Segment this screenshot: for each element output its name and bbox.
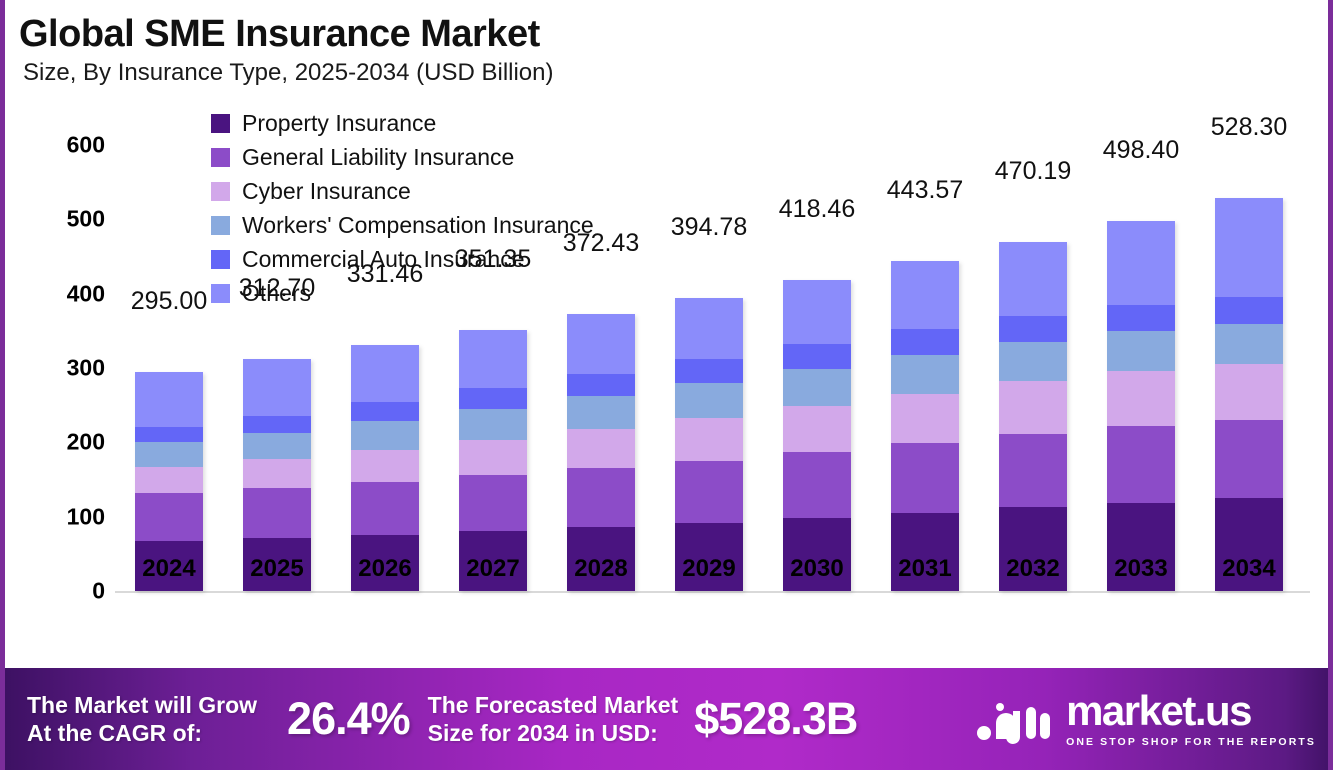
- bar-segment[interactable]: [567, 396, 635, 429]
- logo-wordmark: market.us: [1066, 690, 1316, 732]
- bar-column[interactable]: 418.462030: [763, 0, 871, 591]
- x-axis-tick-label: 2034: [1195, 555, 1303, 583]
- bar-segment[interactable]: [243, 416, 311, 433]
- x-axis-tick-label: 2030: [763, 555, 871, 583]
- bar-segment[interactable]: [891, 394, 959, 443]
- y-axis-tick-label: 100: [67, 503, 105, 530]
- bar-segment[interactable]: [351, 421, 419, 450]
- plot-area: 0100200300400500600 295.002024312.702025…: [5, 0, 1328, 660]
- bar-segment[interactable]: [243, 488, 311, 538]
- bar-segment[interactable]: [351, 402, 419, 421]
- bar-segment[interactable]: [891, 329, 959, 355]
- footer-banner: The Market will Grow At the CAGR of: 26.…: [5, 668, 1333, 770]
- forecast-label: The Forecasted Market Size for 2034 in U…: [428, 691, 679, 747]
- bar-segment[interactable]: [459, 388, 527, 409]
- x-axis-tick-label: 2029: [655, 555, 763, 583]
- bar-total-label: 295.00: [131, 287, 207, 316]
- bar-segment[interactable]: [783, 344, 851, 369]
- stacked-bar[interactable]: [783, 280, 851, 591]
- legend-swatch-icon: [211, 284, 230, 303]
- bar-segment[interactable]: [351, 482, 419, 535]
- stacked-bar[interactable]: [1215, 198, 1283, 591]
- bar-segment[interactable]: [783, 452, 851, 518]
- y-axis-tick-label: 200: [67, 429, 105, 456]
- cagr-value: 26.4%: [287, 693, 410, 745]
- bar-segment[interactable]: [243, 359, 311, 416]
- stacked-bar[interactable]: [675, 298, 743, 591]
- bar-total-label: 443.57: [887, 176, 963, 205]
- bar-column[interactable]: 470.192032: [979, 0, 1087, 591]
- legend-item[interactable]: Property Insurance: [211, 106, 594, 140]
- bar-segment[interactable]: [135, 372, 203, 427]
- chart-page: Global SME Insurance Market Size, By Ins…: [0, 0, 1333, 770]
- bar-segment[interactable]: [1215, 324, 1283, 365]
- legend-item[interactable]: Commercial Auto Insurance: [211, 242, 594, 276]
- bar-segment[interactable]: [459, 440, 527, 476]
- legend-swatch-icon: [211, 148, 230, 167]
- stacked-bar[interactable]: [999, 242, 1067, 591]
- stacked-bar[interactable]: [567, 314, 635, 591]
- bar-column[interactable]: 295.002024: [115, 0, 223, 591]
- bar-segment[interactable]: [1215, 420, 1283, 498]
- bar-segment[interactable]: [135, 467, 203, 493]
- bar-segment[interactable]: [1107, 331, 1175, 371]
- bar-segment[interactable]: [351, 450, 419, 482]
- bar-column[interactable]: 394.782029: [655, 0, 763, 591]
- bar-segment[interactable]: [675, 359, 743, 383]
- y-axis: 0100200300400500600: [33, 0, 105, 660]
- bar-segment[interactable]: [1107, 221, 1175, 305]
- bar-segment[interactable]: [999, 381, 1067, 433]
- bar-segment[interactable]: [999, 316, 1067, 342]
- bar-segment[interactable]: [459, 409, 527, 440]
- bar-total-label: 498.40: [1103, 136, 1179, 165]
- legend-swatch-icon: [211, 182, 230, 201]
- bar-segment[interactable]: [135, 442, 203, 467]
- bar-segment[interactable]: [567, 374, 635, 396]
- bar-segment[interactable]: [1215, 297, 1283, 324]
- bar-segment[interactable]: [459, 475, 527, 531]
- legend-item[interactable]: Workers' Compensation Insurance: [211, 208, 594, 242]
- bar-group: 295.002024312.702025331.462026351.352027…: [115, 0, 1310, 640]
- legend-item[interactable]: General Liability Insurance: [211, 140, 594, 174]
- bar-segment[interactable]: [243, 459, 311, 488]
- bar-segment[interactable]: [135, 427, 203, 443]
- bar-segment[interactable]: [891, 355, 959, 393]
- bar-segment[interactable]: [1215, 198, 1283, 297]
- legend-item-label: Property Insurance: [242, 112, 436, 135]
- bar-column[interactable]: 528.302034: [1195, 0, 1303, 591]
- cagr-label: The Market will Grow At the CAGR of:: [27, 691, 257, 747]
- bar-column[interactable]: 443.572031: [871, 0, 979, 591]
- bar-segment[interactable]: [783, 369, 851, 406]
- bar-segment[interactable]: [1215, 364, 1283, 420]
- bar-total-label: 418.46: [779, 195, 855, 224]
- legend-swatch-icon: [211, 250, 230, 269]
- x-axis-tick-label: 2027: [439, 555, 547, 583]
- stacked-bar[interactable]: [459, 330, 527, 591]
- x-axis-tick-label: 2031: [871, 555, 979, 583]
- legend-swatch-icon: [211, 216, 230, 235]
- bar-segment[interactable]: [351, 345, 419, 403]
- y-axis-tick-label: 600: [67, 132, 105, 159]
- bar-segment[interactable]: [675, 418, 743, 461]
- bar-segment[interactable]: [999, 434, 1067, 508]
- bar-segment[interactable]: [243, 433, 311, 459]
- bar-segment[interactable]: [891, 261, 959, 329]
- bar-segment[interactable]: [999, 242, 1067, 316]
- bar-total-label: 394.78: [671, 213, 747, 242]
- bar-segment[interactable]: [1107, 305, 1175, 332]
- legend-item[interactable]: Cyber Insurance: [211, 174, 594, 208]
- bar-segment[interactable]: [567, 468, 635, 527]
- y-axis-tick-label: 500: [67, 206, 105, 233]
- legend-swatch-icon: [211, 114, 230, 133]
- bar-segment[interactable]: [1107, 426, 1175, 503]
- bar-segment[interactable]: [783, 406, 851, 452]
- stacked-bar[interactable]: [891, 261, 959, 591]
- legend-item-label: Workers' Compensation Insurance: [242, 214, 594, 237]
- y-axis-tick-label: 0: [92, 578, 105, 605]
- x-axis-tick-label: 2025: [223, 555, 331, 583]
- x-axis-tick-label: 2028: [547, 555, 655, 583]
- x-axis-tick-label: 2032: [979, 555, 1087, 583]
- y-axis-tick-label: 400: [67, 280, 105, 307]
- bar-segment[interactable]: [783, 280, 851, 344]
- legend-item-label: Cyber Insurance: [242, 180, 411, 203]
- bar-segment[interactable]: [675, 461, 743, 523]
- legend-item-label: Commercial Auto Insurance: [242, 248, 525, 271]
- forecast-value: $528.3B: [694, 693, 857, 745]
- legend-item-label: Others: [242, 282, 311, 305]
- x-axis-tick-label: 2033: [1087, 555, 1195, 583]
- legend-item[interactable]: Others: [211, 276, 594, 310]
- y-axis-tick-label: 300: [67, 355, 105, 382]
- logo-tagline: ONE STOP SHOP FOR THE REPORTS: [1066, 736, 1316, 748]
- bar-total-label: 528.30: [1211, 113, 1287, 142]
- bar-segment[interactable]: [999, 342, 1067, 381]
- x-axis-tick-label: 2026: [331, 555, 439, 583]
- x-axis-tick-label: 2024: [115, 555, 223, 583]
- bar-total-label: 470.19: [995, 157, 1071, 186]
- bar-segment[interactable]: [135, 493, 203, 541]
- market-us-logo[interactable]: market.us ONE STOP SHOP FOR THE REPORTS: [976, 690, 1316, 748]
- bar-segment[interactable]: [675, 383, 743, 418]
- bar-segment[interactable]: [891, 443, 959, 513]
- legend-item-label: General Liability Insurance: [242, 146, 514, 169]
- stacked-bar[interactable]: [1107, 221, 1175, 591]
- bar-segment[interactable]: [675, 298, 743, 360]
- bar-segment[interactable]: [1107, 371, 1175, 426]
- bar-segment[interactable]: [459, 330, 527, 388]
- chart-legend: Property InsuranceGeneral Liability Insu…: [211, 106, 594, 310]
- bar-segment[interactable]: [567, 429, 635, 468]
- market-us-logo-icon: [976, 693, 1054, 745]
- bar-column[interactable]: 498.402033: [1087, 0, 1195, 591]
- bar-segment[interactable]: [567, 314, 635, 374]
